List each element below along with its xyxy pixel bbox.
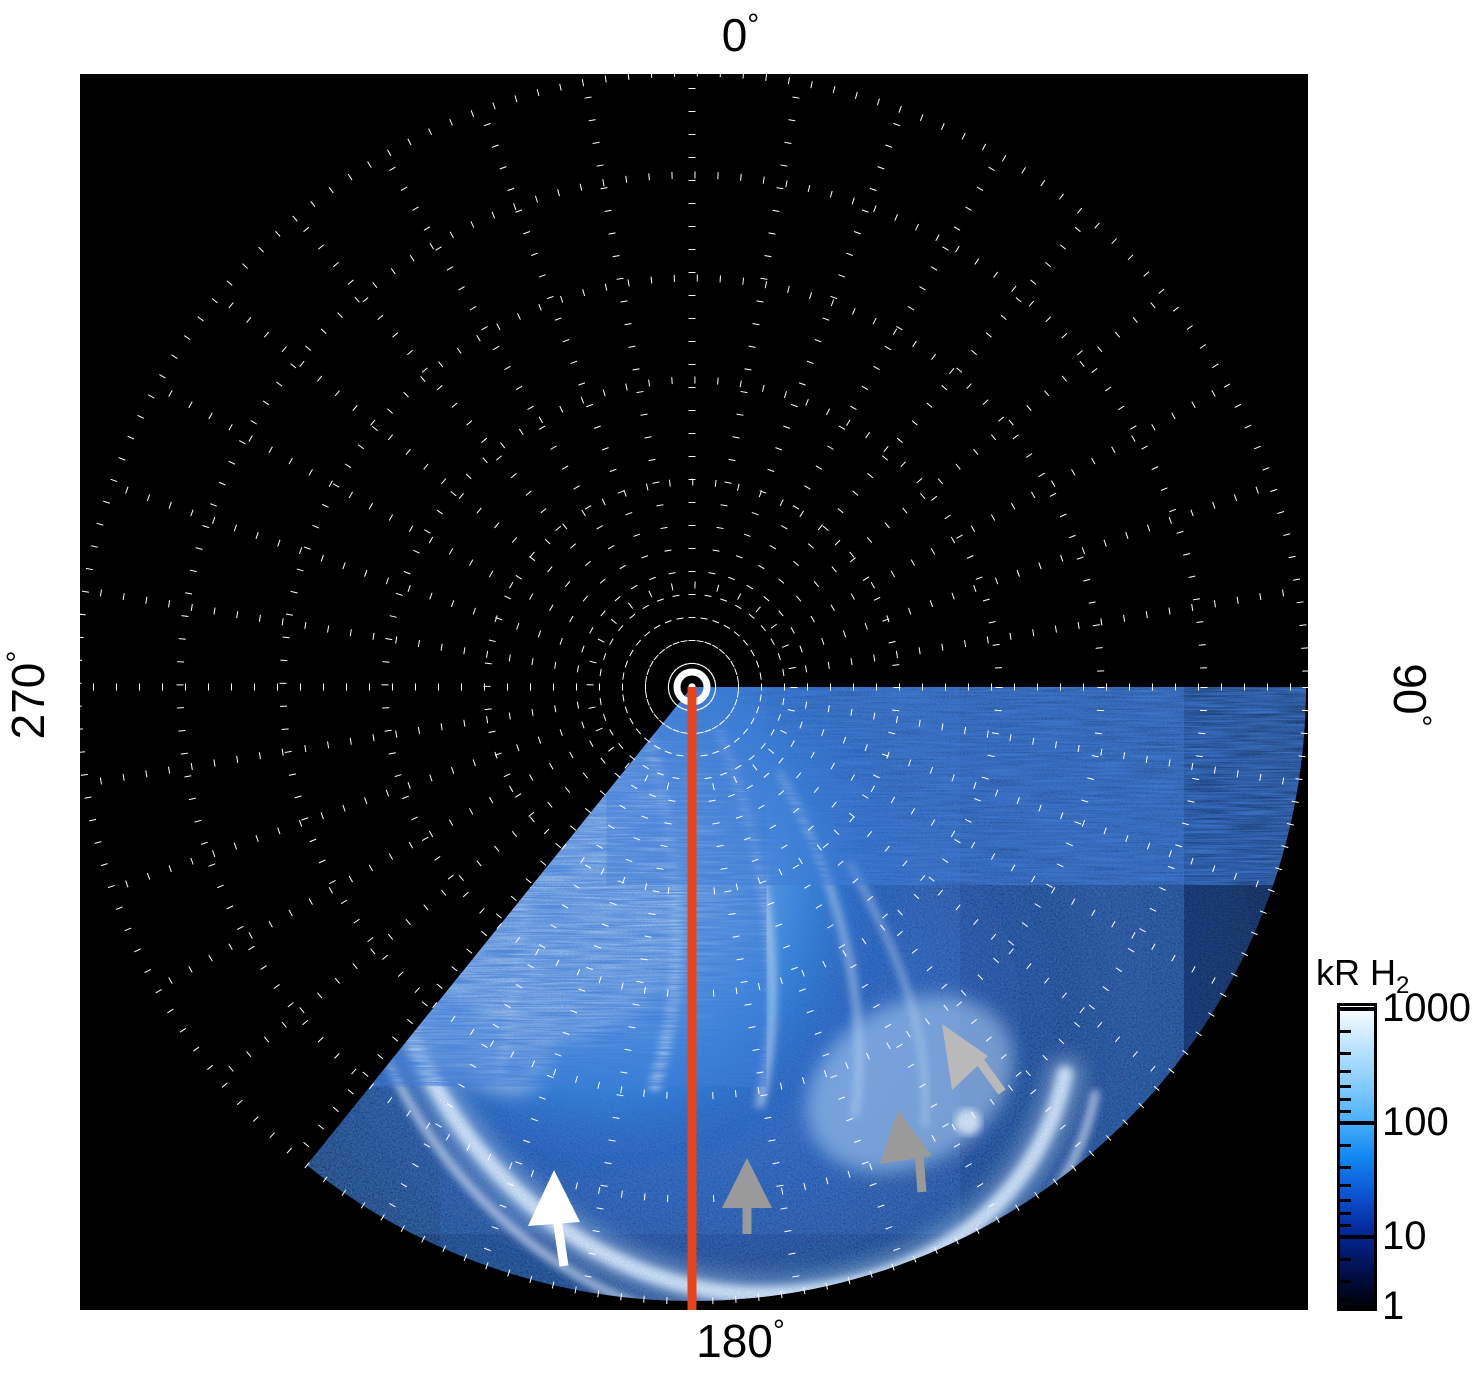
gray-arrow-dawn-patch-high: [942, 1024, 1002, 1092]
colorbar-minor-tick: [1340, 1199, 1351, 1202]
axis-label-90deg: 90°: [1387, 615, 1433, 775]
colorbar-tick-10-right: [1357, 1235, 1374, 1239]
degree-symbol-top: °: [747, 9, 759, 42]
colorbar-minor-tick: [1340, 1052, 1351, 1055]
annotation-arrow-layer: [80, 74, 1308, 1310]
gray-arrow-dawn-patch-low: [880, 1110, 932, 1192]
colorbar-minor-tick: [1340, 1212, 1351, 1215]
colorbar-label-1000: 1000: [1382, 988, 1471, 1028]
colorbar-minor-tick: [1340, 1184, 1351, 1187]
colorbar-minor-tick: [1340, 1166, 1351, 1169]
degree-symbol-bottom: °: [773, 1315, 785, 1348]
colorbar-minor-tick: [1340, 1085, 1351, 1088]
colorbar-tick-100: [1340, 1121, 1357, 1125]
colorbar-label-100: 100: [1382, 1102, 1449, 1142]
colorbar-gradient: [1337, 1003, 1377, 1311]
colorbar-tick-10: [1340, 1235, 1357, 1239]
colorbar-minor-tick: [1340, 1224, 1351, 1227]
axis-label-270deg: 270°: [5, 615, 51, 775]
colorbar-minor-tick: [1340, 1070, 1351, 1073]
axis-label-0deg: 0°: [0, 12, 1481, 58]
colorbar-tick-1000: [1340, 1007, 1357, 1011]
polar-aurora-figure: 0° 180° 270° 90°: [0, 0, 1481, 1386]
colorbar-minor-tick: [1340, 1258, 1351, 1261]
gray-arrow-midnight-arc: [722, 1158, 772, 1234]
colorbar-minor-tick: [1340, 1110, 1351, 1113]
polar-plot-area: [80, 74, 1308, 1310]
colorbar-tick-1000-right: [1357, 1007, 1374, 1011]
white-arrow-outer-arc: [528, 1170, 580, 1266]
colorbar-minor-tick: [1340, 1298, 1351, 1301]
colorbar-minor-tick: [1340, 1144, 1351, 1147]
colorbar-label-1: 1: [1382, 1286, 1404, 1326]
colorbar-minor-tick: [1340, 1280, 1351, 1283]
colorbar-minor-tick: [1340, 1098, 1351, 1101]
colorbar-tick-100-right: [1357, 1121, 1374, 1125]
colorbar-label-10: 10: [1382, 1216, 1427, 1256]
degree-symbol-left: °: [2, 651, 35, 663]
colorbar-minor-tick: [1340, 1030, 1351, 1033]
degree-symbol-right: °: [1403, 715, 1436, 727]
axis-label-180deg: 180°: [0, 1318, 1481, 1364]
colorbar-tick-1: [1340, 1305, 1357, 1309]
colorbar-tick-1-right: [1357, 1305, 1374, 1309]
